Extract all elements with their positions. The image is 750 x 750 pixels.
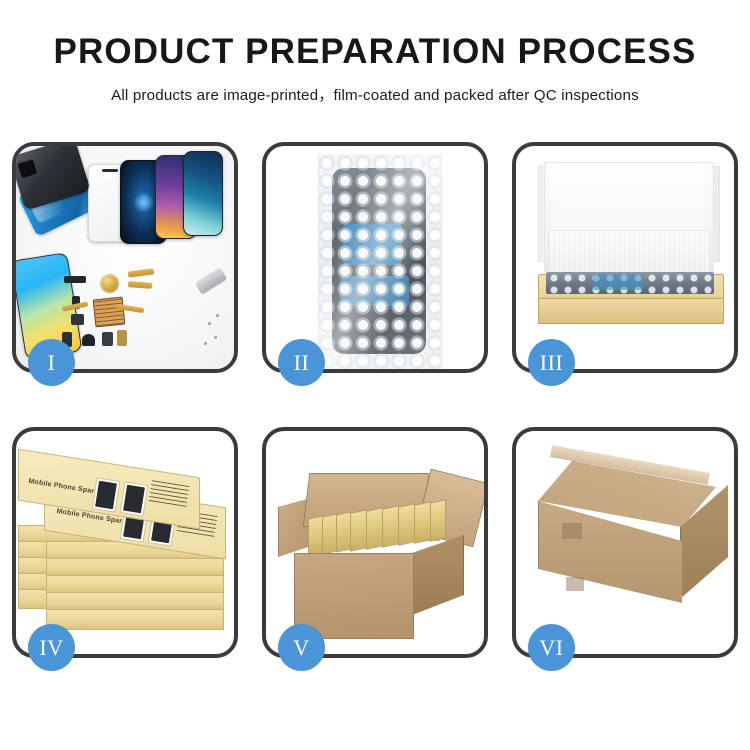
- yellow-box-item: [366, 507, 383, 550]
- box-thumbnail: [92, 477, 121, 512]
- step-badge-5: V: [278, 624, 325, 671]
- foam-liner: [548, 230, 710, 278]
- step-panel-2[interactable]: II: [262, 142, 488, 373]
- carton-handle-tab: [562, 523, 582, 539]
- yellow-box-item: [414, 501, 431, 544]
- chip-part-icon: [64, 276, 86, 283]
- step-panel-1[interactable]: I: [12, 142, 238, 373]
- speaker-part-icon: [82, 334, 95, 346]
- screw-icon: [214, 336, 217, 339]
- step-6-image: [516, 431, 734, 654]
- process-step-grid: I II III: [12, 142, 738, 658]
- box-thumbnail: [120, 481, 149, 516]
- screw-icon: [216, 314, 219, 317]
- chip-part-icon: [71, 314, 84, 325]
- speaker-coil-icon: [100, 274, 119, 293]
- phone-display-teal-icon: [183, 151, 223, 236]
- step-badge-6: VI: [528, 624, 575, 671]
- step-panel-3[interactable]: III: [512, 142, 738, 373]
- packed-screens-row: [546, 272, 714, 294]
- step-panel-5[interactable]: V: [262, 427, 488, 658]
- step-badge-2: II: [278, 339, 325, 386]
- yellow-box-item: [398, 503, 415, 546]
- step-5-image: [266, 431, 484, 654]
- step-badge-4: IV: [28, 624, 75, 671]
- yellow-box-item: [322, 513, 337, 554]
- carton-handle-tab: [566, 577, 584, 591]
- step-panel-6[interactable]: VI: [512, 427, 738, 658]
- yellow-box-item: [336, 511, 351, 552]
- battery-connector-icon: [117, 330, 127, 346]
- step-badge-1: I: [28, 339, 75, 386]
- step-1-image: [16, 146, 234, 369]
- carton-side-face: [412, 535, 464, 615]
- chip-part-icon: [102, 332, 113, 346]
- screw-icon: [208, 322, 211, 325]
- kraft-box-front: [538, 298, 724, 324]
- page-subtitle: All products are image-printed，film-coat…: [0, 83, 750, 105]
- page-title: PRODUCT PREPARATION PROCESS: [0, 34, 750, 71]
- yellow-box-item: [382, 505, 399, 548]
- yellow-box-item: [430, 499, 446, 541]
- step-3-image: [516, 146, 734, 369]
- step-badge-3: III: [528, 339, 575, 386]
- screw-icon: [204, 342, 207, 345]
- plastic-glare: [266, 146, 484, 369]
- stacked-box: [46, 609, 224, 630]
- step-2-image: [266, 146, 484, 369]
- page-header: PRODUCT PREPARATION PROCESS All products…: [0, 0, 750, 105]
- yellow-box-item: [350, 509, 367, 552]
- yellow-box-item: [308, 515, 323, 556]
- ic-grid-icon: [93, 297, 126, 328]
- step-4-image: Mobile Phone Spare Parts Mobile Phone Sp…: [16, 431, 234, 654]
- step-panel-4[interactable]: Mobile Phone Spare Parts Mobile Phone Sp…: [12, 427, 238, 658]
